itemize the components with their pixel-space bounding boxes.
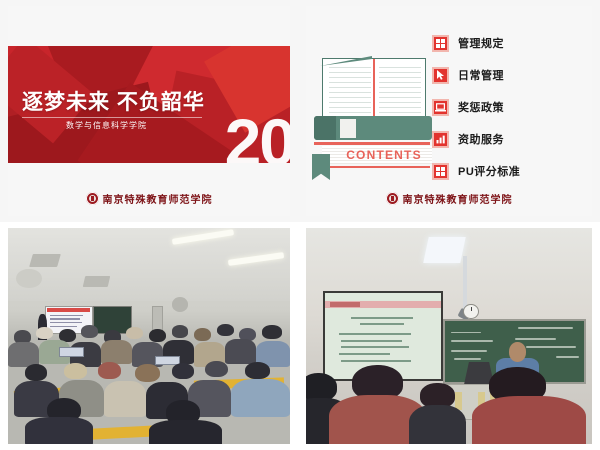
slide-heading: 逐梦未来 不负韶华 xyxy=(22,86,205,116)
contents-menu-item-5[interactable]: PU评分标准 xyxy=(432,160,578,182)
open-book-illustration: CONTENTS xyxy=(314,54,432,176)
hanging-rod xyxy=(463,256,466,312)
chalk-writing xyxy=(454,358,482,360)
chalk-writing xyxy=(518,327,574,329)
slide-subtitle: 数学与信息科学学院 xyxy=(66,120,147,131)
title-slide-red-banner: 20 逐梦未来 不负韶华 数学与信息科学学院 xyxy=(8,46,290,163)
photo-classroom-audience xyxy=(0,222,298,450)
contents-menu-item-2[interactable]: 日常管理 xyxy=(432,64,578,86)
university-logo: 南京特殊教育师范学院 xyxy=(8,191,290,206)
student-head xyxy=(172,325,189,337)
grid-icon xyxy=(432,35,449,52)
student-body xyxy=(409,405,466,444)
student-head xyxy=(262,325,282,338)
student-body xyxy=(104,381,146,417)
photo-lecture-frame xyxy=(306,228,592,444)
laptop-icon xyxy=(432,99,449,116)
slide-text-line xyxy=(341,346,408,348)
student-head xyxy=(245,362,270,379)
slide-header-band xyxy=(325,301,441,308)
title-slide: 20 逐梦未来 不负韶华 数学与信息科学学院 南京特殊教育师范学院 xyxy=(0,0,298,222)
contents-slide: CONTENTS 管理规定 xyxy=(298,0,600,222)
contents-menu: 管理规定 日常管理 xyxy=(432,32,578,192)
student-head xyxy=(172,363,195,379)
student-head xyxy=(194,328,211,341)
university-seal-icon xyxy=(86,192,99,205)
student-body xyxy=(472,396,586,444)
wall-clock-icon xyxy=(463,304,479,319)
student-head xyxy=(98,362,121,379)
image-collage: 20 逐梦未来 不负韶华 数学与信息科学学院 南京特殊教育师范学院 xyxy=(0,0,600,450)
slide-text-line xyxy=(341,340,401,342)
chalk-writing xyxy=(526,346,576,348)
university-logo-text: 南京特殊教育师范学院 xyxy=(403,191,513,206)
book-text-lines xyxy=(329,67,371,113)
slide-text-line xyxy=(339,353,390,355)
title-slide-sheet: 20 逐梦未来 不负韶华 数学与信息科学学院 南京特殊教育师范学院 xyxy=(8,6,290,216)
university-logo: 南京特殊教育师范学院 xyxy=(306,191,592,206)
ceiling-light xyxy=(423,237,466,263)
book-accent-rule xyxy=(314,142,430,145)
chalk-writing xyxy=(451,340,493,342)
ceiling-duct xyxy=(29,254,61,267)
student-head xyxy=(205,361,228,378)
foreground-audience xyxy=(306,362,592,444)
student-head xyxy=(25,364,48,381)
cursor-icon xyxy=(432,67,449,84)
student-head xyxy=(217,324,234,336)
book-text-lines xyxy=(379,67,421,113)
chalk-writing xyxy=(556,356,578,358)
slide-text-line xyxy=(50,318,79,320)
university-seal-icon xyxy=(386,192,399,205)
title-divider xyxy=(22,117,202,118)
contents-menu-label: 奖惩政策 xyxy=(458,99,504,115)
contents-label: CONTENTS xyxy=(332,146,436,164)
speaker-head xyxy=(509,342,526,361)
student-head xyxy=(81,325,98,337)
slide-text-line xyxy=(50,315,83,317)
book-bookmark-tag xyxy=(340,119,356,138)
chalk-writing xyxy=(451,332,482,334)
bar-chart-icon xyxy=(432,131,449,148)
student-body xyxy=(8,342,39,366)
chalk-writing xyxy=(515,338,557,340)
contents-menu-label: 资助服务 xyxy=(458,131,504,147)
student-head xyxy=(36,327,53,339)
student-body xyxy=(101,340,132,364)
university-logo-text: 南京特殊教育师范学院 xyxy=(103,191,213,206)
photo-classroom-frame xyxy=(8,228,290,444)
contents-menu-item-1[interactable]: 管理规定 xyxy=(432,32,578,54)
book-pages xyxy=(322,58,426,120)
slide-header-band xyxy=(47,308,89,312)
book-cover-slab xyxy=(314,116,432,140)
student-head xyxy=(64,363,87,379)
ceiling-duct xyxy=(83,276,111,287)
slide-text-line xyxy=(351,317,414,319)
contents-menu-item-4[interactable]: 资助服务 xyxy=(432,128,578,150)
student-body xyxy=(225,339,256,364)
student-audience xyxy=(8,323,290,444)
student-body xyxy=(25,417,93,444)
year-number: 20 xyxy=(225,109,290,163)
bookmark-ribbon-icon xyxy=(312,154,330,180)
contents-menu-label: PU评分标准 xyxy=(458,163,520,179)
slide-header-title xyxy=(330,302,360,306)
contents-menu-label: 管理规定 xyxy=(458,35,504,51)
slide-text-line xyxy=(339,333,411,335)
student-head xyxy=(126,327,143,339)
chalk-writing xyxy=(451,350,487,352)
student-body xyxy=(231,379,290,418)
contents-menu-label: 日常管理 xyxy=(458,67,504,83)
slide-text-line xyxy=(360,323,404,325)
grid-icon xyxy=(432,163,449,180)
student-head xyxy=(135,364,160,382)
student-head xyxy=(149,329,166,342)
student-body xyxy=(149,420,222,444)
photo-lecture-speaker xyxy=(298,222,600,450)
contents-slide-sheet: CONTENTS 管理规定 xyxy=(306,6,592,216)
book-spine xyxy=(314,116,336,140)
contents-menu-item-3[interactable]: 奖惩政策 xyxy=(432,96,578,118)
book-accent-rule xyxy=(322,166,430,168)
laptop-screen xyxy=(59,347,84,357)
